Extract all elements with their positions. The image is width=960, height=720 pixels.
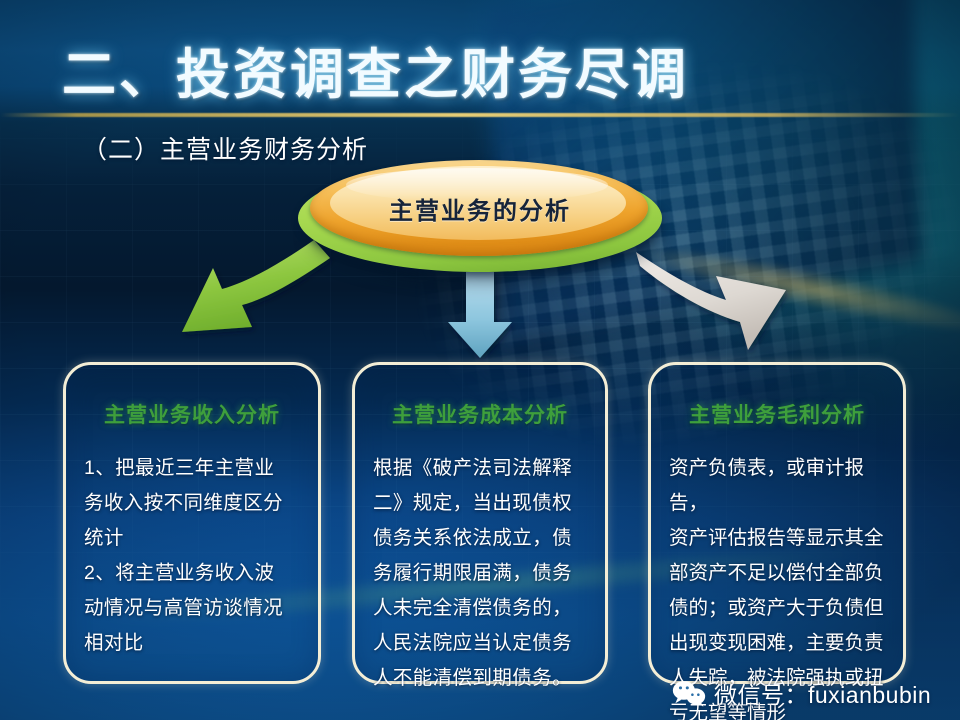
wechat-handle-text: 微信号：fuxianbubin bbox=[714, 676, 931, 710]
slide-title: 二、投资调查之财务尽调 bbox=[62, 30, 689, 109]
content-box-cost: 主营业务成本分析 根据《破产法司法解释 二》规定，当出现债权 债务关系依法成立，… bbox=[352, 362, 608, 684]
wechat-icon bbox=[672, 679, 706, 707]
content-box-heading: 主营业务收入分析 bbox=[84, 399, 300, 429]
wechat-watermark: 微信号：fuxianbubin bbox=[672, 676, 931, 710]
content-box-body: 根据《破产法司法解释 二》规定，当出现债权 债务关系依法成立，债 务履行期限届满… bbox=[373, 451, 587, 696]
center-node: 主营业务的分析 bbox=[298, 160, 662, 278]
content-box-body: 1、把最近三年主营业 务收入按不同维度区分 统计 2、将主营业务收入波 动情况与… bbox=[84, 451, 300, 661]
center-node-label: 主营业务的分析 bbox=[298, 160, 662, 256]
content-box-heading: 主营业务毛利分析 bbox=[669, 399, 885, 429]
title-divider bbox=[0, 113, 960, 117]
content-box-heading: 主营业务成本分析 bbox=[373, 399, 587, 429]
content-box-gross-profit: 主营业务毛利分析 资产负债表，或审计报告， 资产评估报告等显示其全 部资产不足以… bbox=[648, 362, 906, 684]
content-box-revenue: 主营业务收入分析 1、把最近三年主营业 务收入按不同维度区分 统计 2、将主营业… bbox=[63, 362, 321, 684]
presentation-slide: 二、投资调查之财务尽调 （二）主营业务财务分析 bbox=[0, 0, 960, 720]
